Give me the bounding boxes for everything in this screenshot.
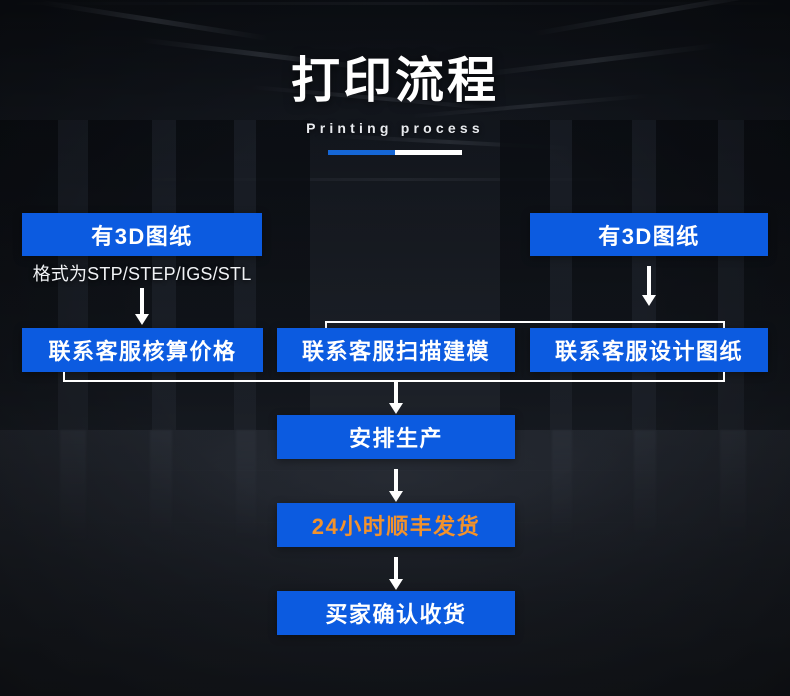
bracket-merge-right-tick [723, 372, 725, 381]
flow-box-label: 买家确认收货 [325, 597, 466, 629]
title-divider-white-segment [395, 150, 462, 155]
flow-box-arrange-production[interactable]: 安排生产 [277, 415, 515, 459]
flow-box-contact-design[interactable]: 联系客服设计图纸 [530, 328, 768, 372]
bracket-top-horizontal [325, 321, 725, 323]
arrow-head [642, 295, 656, 306]
arrow-shaft [394, 557, 398, 579]
title-divider-blue-segment [328, 150, 395, 155]
flow-box-label: 24小时顺丰发货 [312, 509, 480, 541]
arrow-shaft [394, 469, 398, 491]
page-subtitle: Printing process [0, 120, 790, 136]
arrow-down-to-shipping [389, 469, 403, 502]
arrow-head [135, 314, 149, 325]
flow-box-contact-quote[interactable]: 联系客服核算价格 [22, 328, 263, 372]
arrow-down-right [642, 266, 656, 306]
arrow-shaft [394, 381, 398, 403]
arrow-shaft [647, 266, 651, 295]
flow-box-label: 安排生产 [349, 421, 443, 453]
arrow-down-to-confirm [389, 557, 403, 590]
caption-format-note: 格式为STP/STEP/IGS/STL [22, 260, 262, 286]
flow-box-has-3d-drawing-right[interactable]: 有3D图纸 [530, 213, 768, 256]
header: 打印流程 Printing process [0, 52, 790, 155]
arrow-head [389, 491, 403, 502]
printing-process-infographic: 打印流程 Printing process 有3D图纸 有3D图纸 格式为STP… [0, 0, 790, 696]
flow-box-label: 联系客服扫描建模 [302, 334, 490, 366]
arrow-head [389, 403, 403, 414]
flow-box-label: 联系客服核算价格 [48, 334, 236, 366]
flow-box-contact-scan-model[interactable]: 联系客服扫描建模 [277, 328, 515, 372]
arrow-down-to-production [389, 381, 403, 414]
arrow-down-left [135, 288, 149, 325]
flow-box-label: 有3D图纸 [91, 219, 193, 251]
page-title: 打印流程 [0, 52, 790, 110]
arrow-head [389, 579, 403, 590]
flow-box-label: 联系客服设计图纸 [555, 334, 743, 366]
flow-box-buyer-confirm[interactable]: 买家确认收货 [277, 591, 515, 635]
arrow-shaft [140, 288, 144, 314]
bracket-merge-left-tick [63, 372, 65, 381]
flow-box-label: 有3D图纸 [598, 219, 700, 251]
flow-box-has-3d-drawing-left[interactable]: 有3D图纸 [22, 213, 262, 256]
flow-box-sf-express-24h[interactable]: 24小时顺丰发货 [277, 503, 515, 547]
title-divider [328, 150, 462, 155]
